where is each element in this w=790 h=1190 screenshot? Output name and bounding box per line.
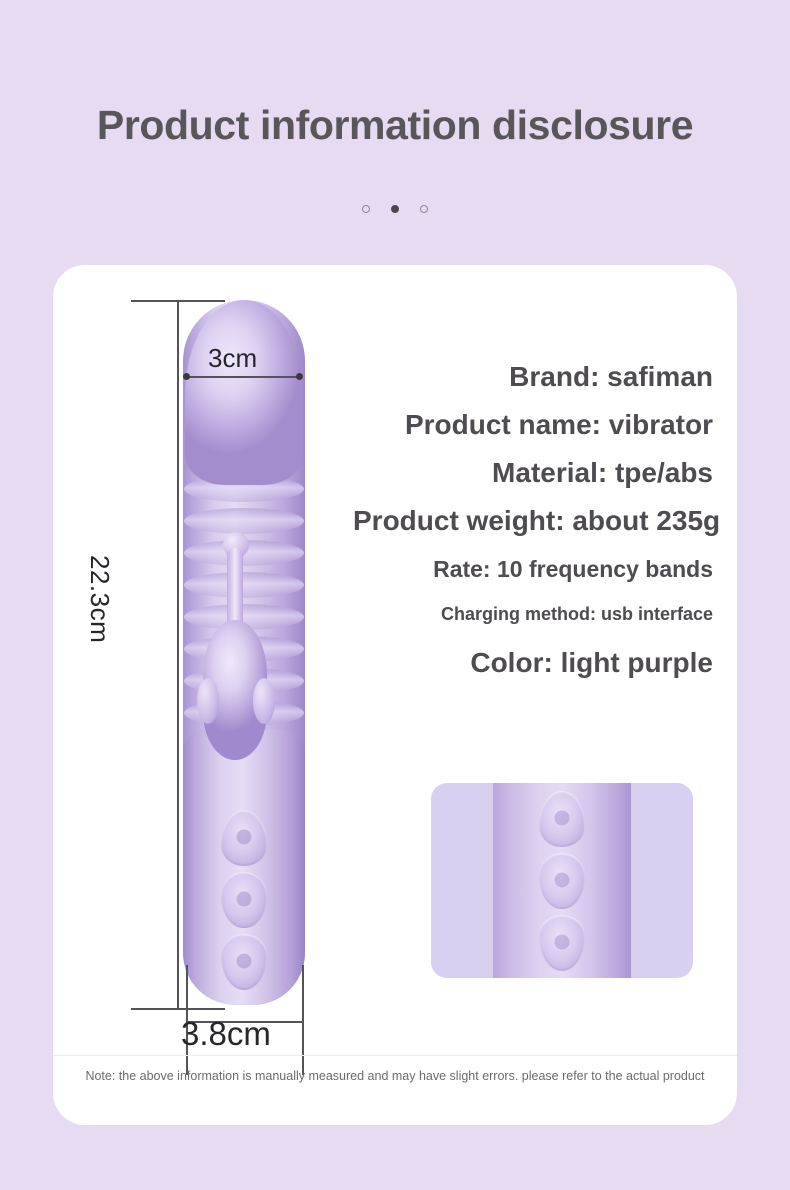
product-rib <box>184 572 304 598</box>
dimension-label-top-width: 3cm <box>208 343 257 374</box>
rabbit-glyph-icon <box>555 810 570 825</box>
card-divider <box>53 1055 737 1056</box>
disclaimer-note: Note: the above information is manually … <box>53 1069 737 1083</box>
carousel-dot-2[interactable] <box>391 205 399 213</box>
product-image <box>183 300 305 1005</box>
spec-charging-method: Charging method: usb interface <box>353 605 713 623</box>
specification-list: Brand: safiman Product name: vibrator Ma… <box>353 363 713 677</box>
spec-rate: Rate: 10 frequency bands <box>353 558 713 581</box>
inset-control-button-1 <box>539 791 585 847</box>
carousel-dot-1[interactable] <box>362 205 370 213</box>
carousel-dot-3[interactable] <box>420 205 428 213</box>
dimension-line-height <box>177 300 179 1010</box>
inset-shaft <box>493 783 631 978</box>
control-button-2 <box>221 872 267 928</box>
power-glyph-icon <box>555 934 570 949</box>
rabbit-glyph-icon <box>237 829 252 844</box>
power-glyph-icon <box>237 953 252 968</box>
detail-inset-image <box>431 783 693 978</box>
product-rib <box>184 508 304 534</box>
dimension-tick-bottom <box>131 1008 225 1010</box>
spec-brand: Brand: safiman <box>353 363 713 391</box>
dimension-endpoint-right <box>296 373 303 380</box>
dimension-label-height: 22.3cm <box>84 555 115 643</box>
page-title: Product information disclosure <box>0 102 790 149</box>
dimension-edge-right <box>302 965 304 1075</box>
product-figure: 3cm 22.3cm 3.8cm <box>53 265 393 1065</box>
spec-product-name: Product name: vibrator <box>353 411 713 439</box>
dimension-endpoint-left <box>183 373 190 380</box>
product-arm-nub-right <box>253 678 275 724</box>
spec-product-weight: Product weight: about 235g <box>353 507 713 535</box>
info-card: 3cm 22.3cm 3.8cm Brand: safiman Product … <box>53 265 737 1125</box>
dimension-label-bottom-width: 3.8cm <box>181 1015 271 1053</box>
product-arm-nub-left <box>197 678 219 724</box>
dimension-line-top-width <box>186 376 300 378</box>
wave-glyph-icon <box>237 891 252 906</box>
product-control-buttons <box>221 810 267 1000</box>
product-head <box>185 300 303 485</box>
spec-color: Color: light purple <box>353 649 713 677</box>
inset-control-button-2 <box>539 853 585 909</box>
wave-glyph-icon <box>555 872 570 887</box>
carousel-dots[interactable] <box>0 205 790 213</box>
control-button-1 <box>221 810 267 866</box>
inset-control-button-3 <box>539 915 585 971</box>
spec-material: Material: tpe/abs <box>353 459 713 487</box>
control-button-3 <box>221 934 267 990</box>
